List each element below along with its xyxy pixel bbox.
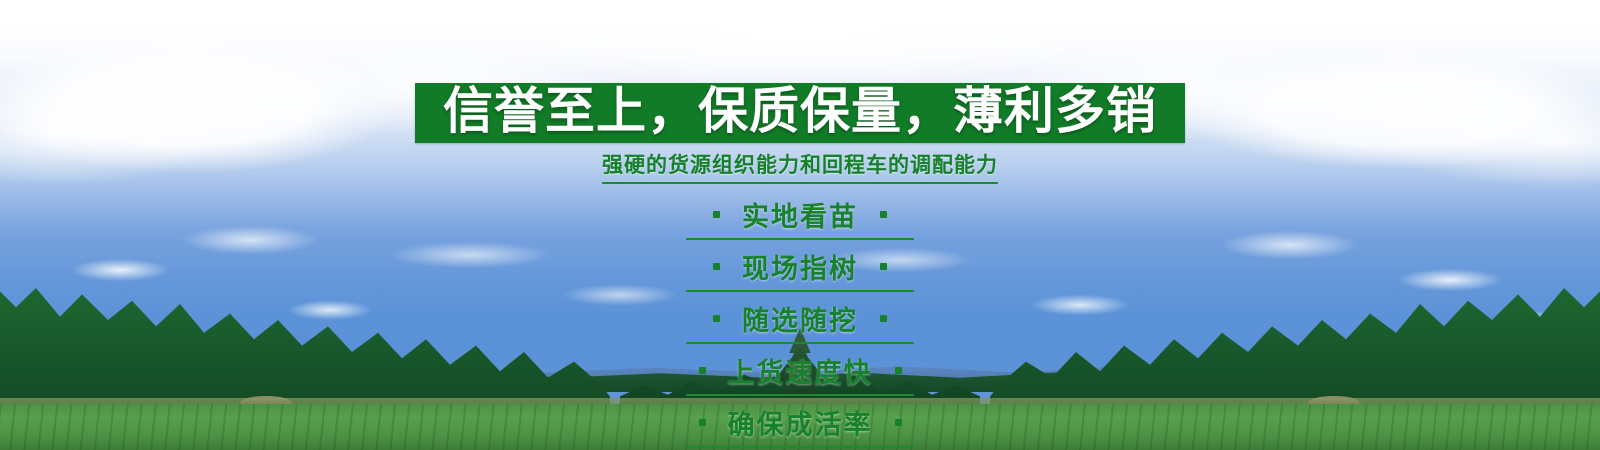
bullet-dot-icon <box>713 315 720 322</box>
feature-point-label: 实地看苗 <box>742 195 858 234</box>
bullet-dot-icon <box>880 263 887 270</box>
feature-point-4: 上货速度快 <box>686 349 914 396</box>
bullet-dot-icon <box>880 315 887 322</box>
feature-point-label: 现场指树 <box>742 247 858 286</box>
feature-point-label: 随选随挖 <box>742 299 858 338</box>
bullet-dot-icon <box>699 419 706 426</box>
bullet-dot-icon <box>880 211 887 218</box>
headline-bar: 信誉至上，保质保量，薄利多销 <box>415 83 1185 143</box>
bullet-dot-icon <box>713 211 720 218</box>
feature-point-label: 确保成活率 <box>728 403 873 442</box>
feature-point-label: 上货速度快 <box>728 351 873 390</box>
feature-points-list: 实地看苗 现场指树 随选随挖 上货速度快 确保成活率 <box>686 193 914 450</box>
banner-content: 信誉至上，保质保量，薄利多销 强硬的货源组织能力和回程车的调配能力 实地看苗 现… <box>0 0 1600 450</box>
feature-point-1: 实地看苗 <box>686 193 914 240</box>
feature-point-3: 随选随挖 <box>686 297 914 344</box>
promotional-banner: 信誉至上，保质保量，薄利多销 强硬的货源组织能力和回程车的调配能力 实地看苗 现… <box>0 0 1600 450</box>
bullet-dot-icon <box>699 367 706 374</box>
feature-point-5: 确保成活率 <box>686 401 914 448</box>
bullet-dot-icon <box>895 367 902 374</box>
subtitle-text: 强硬的货源组织能力和回程车的调配能力 <box>602 149 998 184</box>
bullet-dot-icon <box>713 263 720 270</box>
feature-point-2: 现场指树 <box>686 245 914 292</box>
headline-text: 信誉至上，保质保量，薄利多销 <box>443 85 1157 137</box>
bullet-dot-icon <box>895 419 902 426</box>
